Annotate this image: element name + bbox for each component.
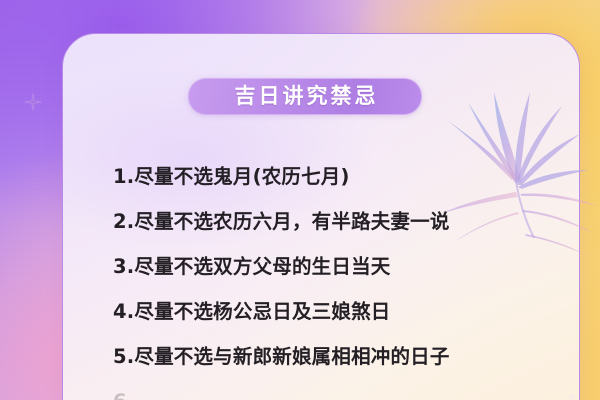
list-item: 1.尽量不选鬼月(农历七月) (113, 167, 543, 212)
taboo-list: 1.尽量不选鬼月(农历七月) 2.尽量不选农历六月，有半路夫妻一说 3.尽量不选… (113, 167, 543, 400)
sparkle-star-icon (19, 88, 47, 116)
list-item: 3.尽量不选双方父母的生日当天 (113, 257, 543, 302)
list-item: 6. (113, 392, 543, 400)
poster-root: 吉日讲究禁忌 1.尽量不选鬼月(农历七月) 2.尽量不选农历六月，有半路夫妻一说… (0, 0, 600, 400)
list-item: 5.尽量不选与新郎新娘属相相冲的日子 (113, 347, 543, 392)
list-item: 2.尽量不选农历六月，有半路夫妻一说 (113, 212, 543, 257)
page-title: 吉日讲究禁忌 (232, 86, 379, 107)
list-item: 4.尽量不选杨公忌日及三娘煞日 (113, 302, 543, 347)
title-badge: 吉日讲究禁忌 (188, 78, 422, 115)
